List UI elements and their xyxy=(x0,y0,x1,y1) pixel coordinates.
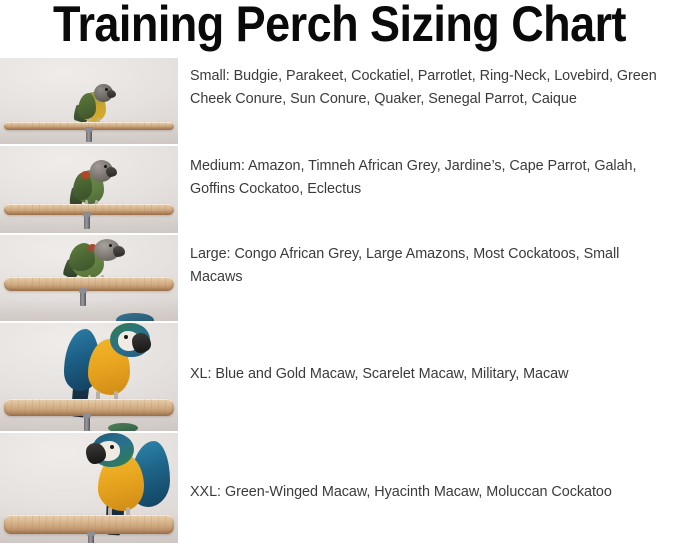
perch-mount-stem xyxy=(80,290,86,306)
bird-eye xyxy=(110,445,114,449)
bird-beak xyxy=(86,443,106,464)
size-description-medium: Medium: Amazon, Timneh African Grey, Jar… xyxy=(178,146,679,201)
size-row: Medium: Amazon, Timneh African Grey, Jar… xyxy=(0,146,679,235)
size-description-xl: XL: Blue and Gold Macaw, Scarelet Macaw,… xyxy=(178,323,679,386)
bird-cape-parrot xyxy=(68,160,118,208)
perch-photo-xxl xyxy=(0,433,178,543)
page-title: Training Perch Sizing Chart xyxy=(34,0,645,52)
next-row-photo-bleed xyxy=(108,423,138,431)
size-description-text: Medium: Amazon, Timneh African Grey, Jar… xyxy=(190,155,675,201)
size-description-small: Small: Budgie, Parakeet, Cockatiel, Parr… xyxy=(178,58,679,111)
perch-photo-large xyxy=(0,235,178,321)
training-perch-large xyxy=(4,277,174,291)
size-description-xxl: XXL: Green-Winged Macaw, Hyacinth Macaw,… xyxy=(178,433,679,504)
size-row: Small: Budgie, Parakeet, Cockatiel, Parr… xyxy=(0,58,679,146)
size-description-large: Large: Congo African Grey, Large Amazons… xyxy=(178,235,679,289)
bird-eye xyxy=(104,165,107,168)
size-row: XXL: Green-Winged Macaw, Hyacinth Macaw,… xyxy=(0,433,679,545)
bird-beak xyxy=(106,167,117,177)
size-description-text: Large: Congo African Grey, Large Amazons… xyxy=(190,243,675,289)
bird-wing xyxy=(78,93,96,119)
next-row-photo-bleed xyxy=(116,313,154,321)
bird-eye xyxy=(109,244,112,247)
bird-beak xyxy=(107,90,116,98)
size-description-text: XXL: Green-Winged Macaw, Hyacinth Macaw,… xyxy=(190,481,675,504)
size-row-list: Small: Budgie, Parakeet, Cockatiel, Parr… xyxy=(0,58,679,545)
bird-eye xyxy=(124,335,128,339)
perch-photo-xl xyxy=(0,323,178,431)
bird-senegal-parrot xyxy=(74,84,120,124)
sizing-chart-page: Training Perch Sizing Chart xyxy=(0,0,679,542)
perch-mount-stem xyxy=(84,214,90,229)
bird-beak xyxy=(132,333,151,353)
perch-photo-small xyxy=(0,58,178,144)
perch-mount-stem xyxy=(84,415,90,431)
size-description-text: XL: Blue and Gold Macaw, Scarelet Macaw,… xyxy=(190,363,675,386)
bird-eye xyxy=(105,88,108,91)
bird-beak xyxy=(113,246,125,257)
perch-mount-stem xyxy=(86,129,92,142)
size-description-text: Small: Budgie, Parakeet, Cockatiel, Parr… xyxy=(190,65,675,111)
perch-photo-medium xyxy=(0,146,178,233)
size-row: Large: Congo African Grey, Large Amazons… xyxy=(0,235,679,323)
bird-shoulder-patch xyxy=(81,171,90,179)
size-row: XL: Blue and Gold Macaw, Scarelet Macaw,… xyxy=(0,323,679,433)
